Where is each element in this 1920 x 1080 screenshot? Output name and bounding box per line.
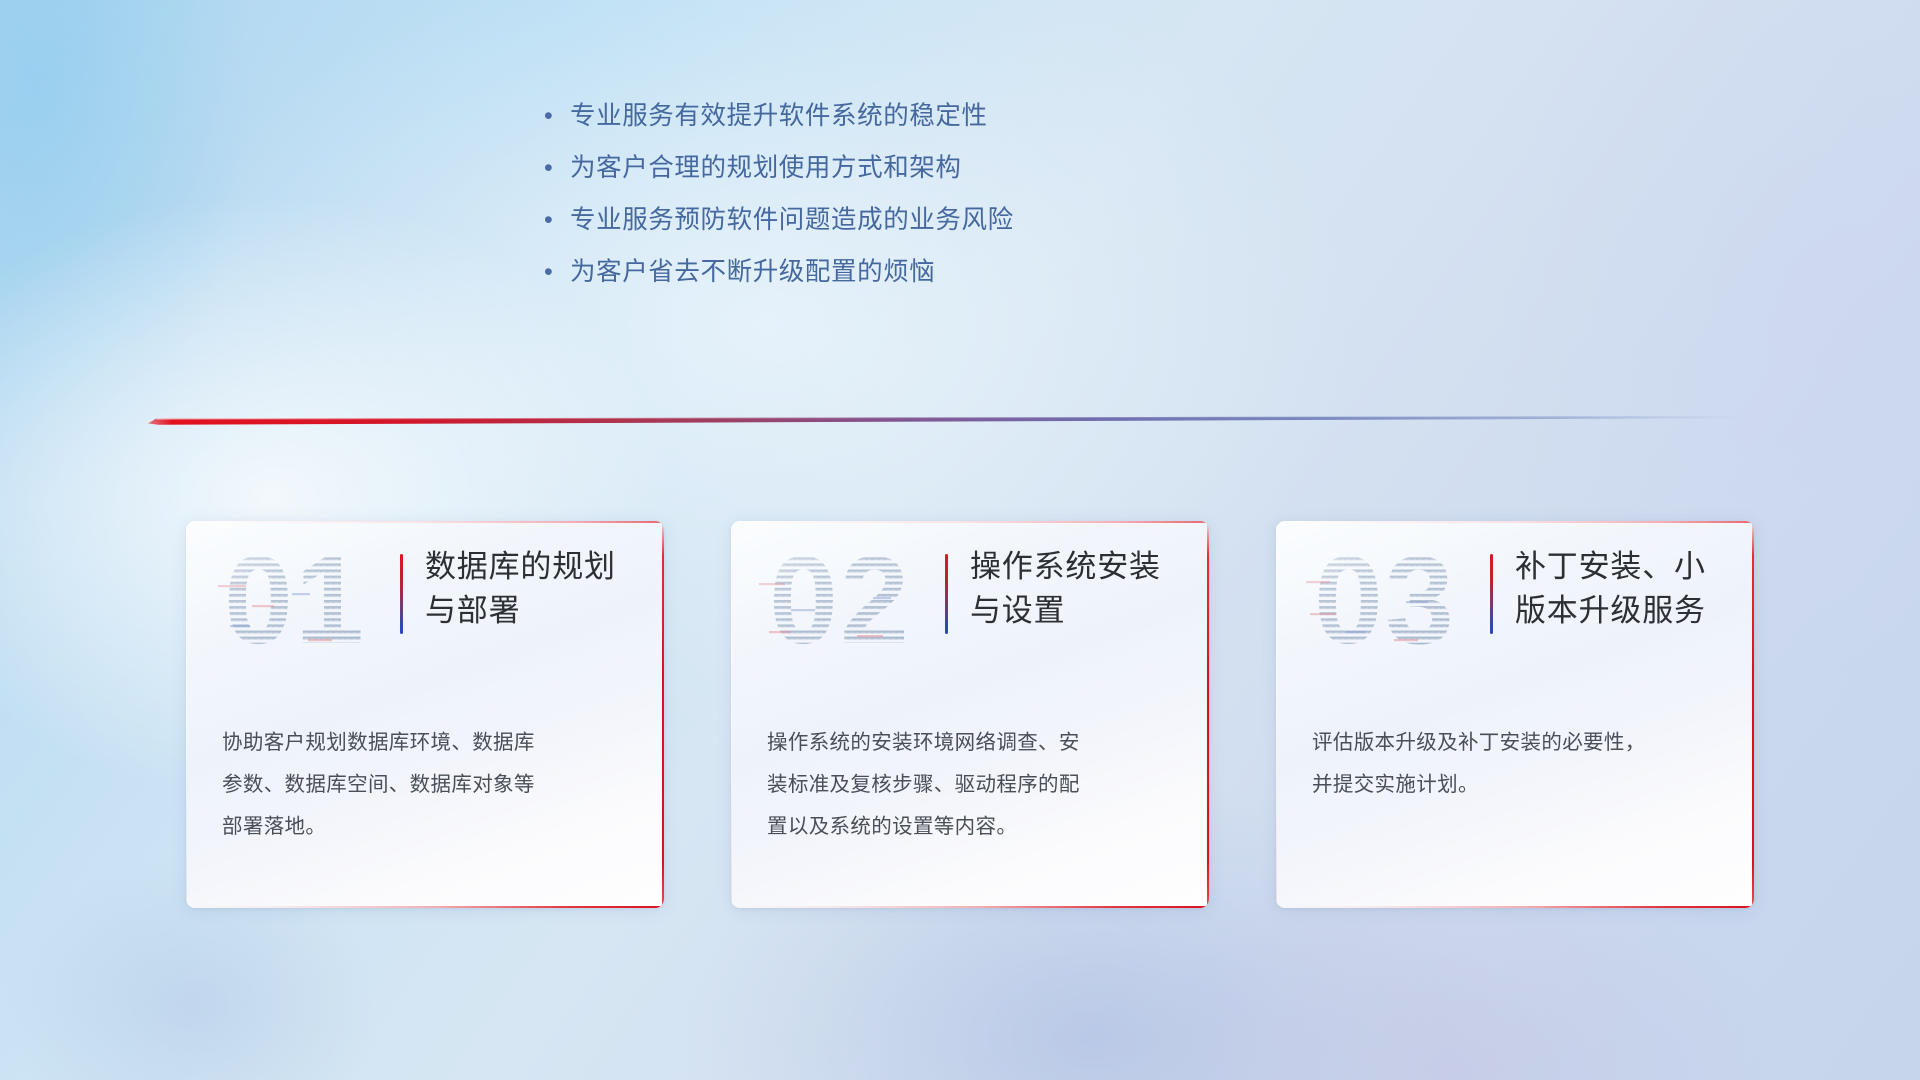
bullet-item-text: 为客户省去不断升级配置的烦恼	[570, 246, 935, 298]
card-right-accent-border	[1752, 521, 1754, 908]
slide-content: • 专业服务有效提升软件系统的稳定性 • 为客户合理的规划使用方式和架构 • 专…	[0, 0, 1920, 1080]
bullet-marker-icon: •	[540, 246, 570, 298]
card-left-edge	[186, 521, 187, 908]
bullet-marker-icon: •	[540, 142, 570, 194]
list-item: • 专业服务预防软件问题造成的业务风险	[540, 194, 1160, 246]
card-right-accent-border	[662, 521, 664, 908]
card-number-watermark: 03	[1290, 539, 1480, 671]
card-bottom-accent-border	[1276, 906, 1754, 908]
card-title: 数据库的规划 与部署	[425, 545, 616, 633]
bullet-item-text: 专业服务预防软件问题造成的业务风险	[570, 194, 1014, 246]
card-title: 补丁安装、小 版本升级服务	[1515, 545, 1706, 633]
bullet-item-text: 为客户合理的规划使用方式和架构	[570, 142, 962, 194]
card-top-edge	[1276, 521, 1754, 523]
card-description: 协助客户规划数据库环境、数据库 参数、数据库空间、数据库对象等 部署落地。	[222, 722, 636, 848]
bullet-marker-icon: •	[540, 90, 570, 142]
service-card[interactable]: 02 操作系统安装 与设置 操作系统的安装环境网络调查、安 装标准及复核步骤、驱…	[731, 521, 1209, 908]
bullet-marker-icon: •	[540, 194, 570, 246]
card-bottom-accent-border	[186, 906, 664, 908]
service-card[interactable]: 03 补丁安装、小 版本升级服务 评估版本升级及补丁安装的必要性， 并提交实施计…	[1276, 521, 1754, 908]
gradient-divider	[148, 408, 1748, 430]
card-description: 操作系统的安装环境网络调查、安 装标准及复核步骤、驱动程序的配 置以及系统的设置…	[767, 722, 1181, 848]
card-left-edge	[731, 521, 732, 908]
list-item: • 专业服务有效提升软件系统的稳定性	[540, 90, 1160, 142]
card-number-watermark: 01	[200, 539, 390, 671]
card-bottom-accent-border	[731, 906, 1209, 908]
service-card[interactable]: 01 数据库的规划 与部署 协助客户规划数据库环境、数据库 参数、数据库空间、数…	[186, 521, 664, 908]
card-header: 补丁安装、小 版本升级服务	[1490, 545, 1738, 634]
card-number-text: 03	[1314, 539, 1456, 670]
card-title: 操作系统安装 与设置	[970, 545, 1161, 633]
card-header: 数据库的规划 与部署	[400, 545, 648, 634]
card-header: 操作系统安装 与设置	[945, 545, 1193, 634]
card-accent-bar	[400, 554, 403, 634]
list-item: • 为客户省去不断升级配置的烦恼	[540, 246, 1160, 298]
card-left-edge	[1276, 521, 1277, 908]
card-top-edge	[731, 521, 1209, 523]
card-number-text: 02	[769, 539, 911, 670]
bullet-item-text: 专业服务有效提升软件系统的稳定性	[570, 90, 988, 142]
card-accent-bar	[1490, 554, 1493, 634]
card-number-text: 01	[224, 539, 366, 670]
card-right-accent-border	[1207, 521, 1209, 908]
card-accent-bar	[945, 554, 948, 634]
list-item: • 为客户合理的规划使用方式和架构	[540, 142, 1160, 194]
card-number-watermark: 02	[745, 539, 935, 671]
card-top-edge	[186, 521, 664, 523]
benefits-bullet-list: • 专业服务有效提升软件系统的稳定性 • 为客户合理的规划使用方式和架构 • 专…	[540, 90, 1160, 298]
card-description: 评估版本升级及补丁安装的必要性， 并提交实施计划。	[1312, 722, 1726, 806]
